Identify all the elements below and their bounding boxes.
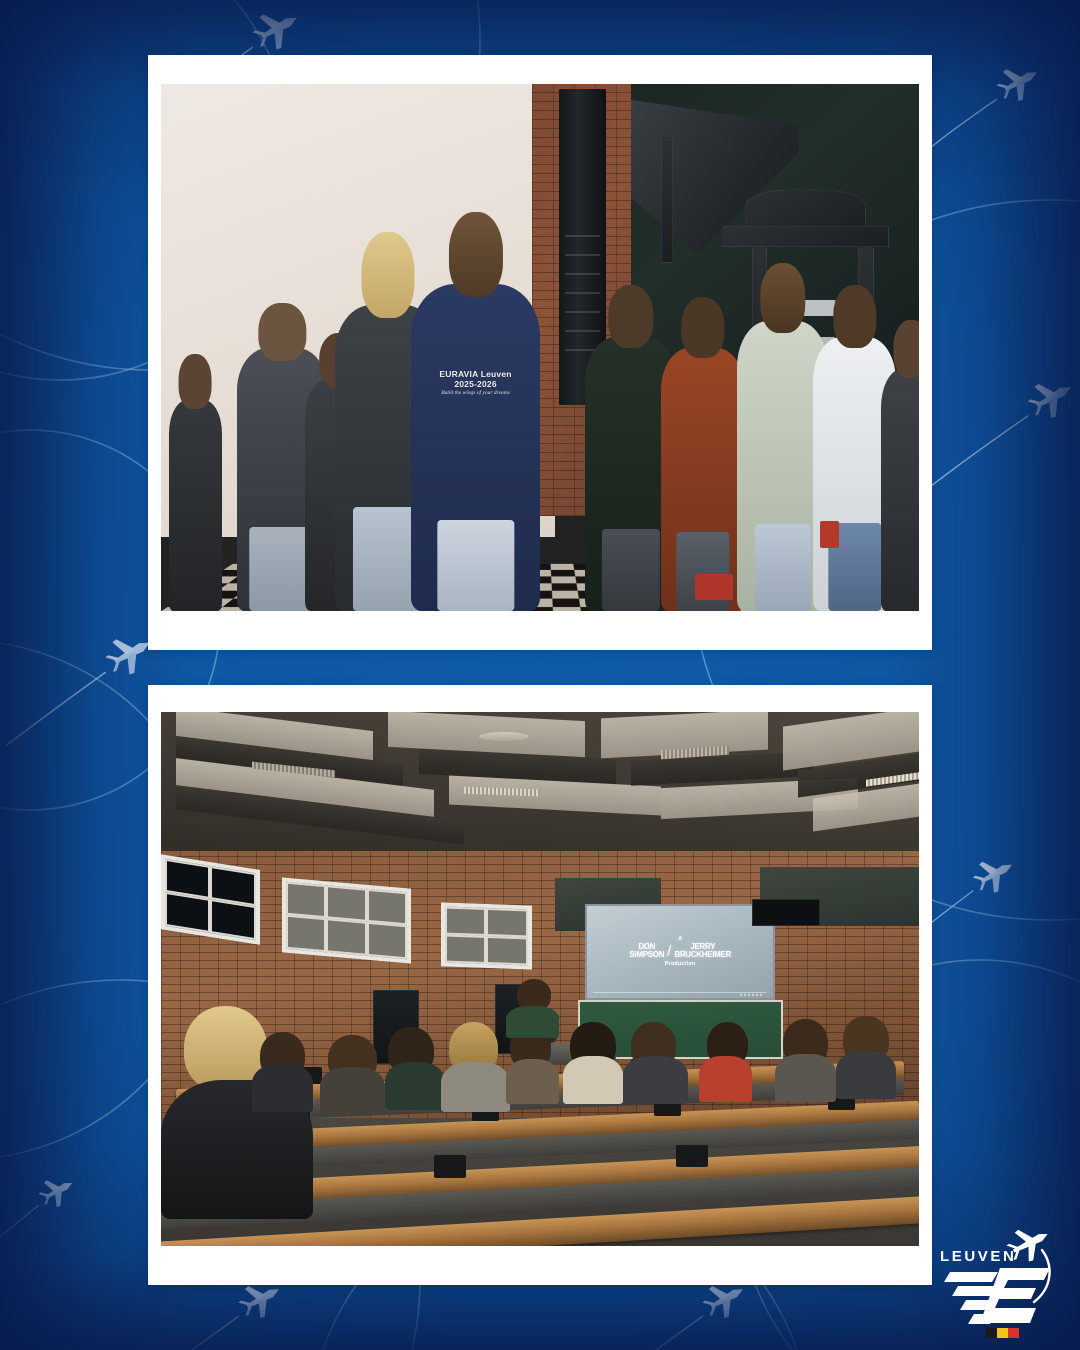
student-body-back-row xyxy=(506,1006,559,1038)
window-left xyxy=(161,854,260,944)
projection-screen: A DON SIMPSON / JERRY BRUCKHEIMER Produc… xyxy=(585,904,775,1000)
ceiling-speaker xyxy=(479,732,528,741)
student-body xyxy=(623,1056,687,1104)
euravia-leuven-logo: LEUVEN xyxy=(938,1228,1068,1343)
student-body xyxy=(252,1064,313,1112)
window-right xyxy=(441,903,532,970)
machine-rail xyxy=(661,137,673,263)
wall-monitor xyxy=(752,899,820,926)
student-body xyxy=(836,1051,897,1099)
machine-cylinder xyxy=(745,189,866,231)
person-orange-jacket xyxy=(661,348,744,612)
student-body xyxy=(441,1062,509,1113)
student-body xyxy=(506,1059,559,1104)
student-body xyxy=(699,1056,752,1101)
window-middle xyxy=(282,877,411,963)
drink-can xyxy=(820,521,838,547)
logo-mark xyxy=(938,1228,1068,1343)
photo-top-students-pizza: EURAVIA Leuven 2025-2026 Build the wings… xyxy=(161,84,919,611)
photo-frame-top: EURAVIA Leuven 2025-2026 Build the wings… xyxy=(148,55,932,650)
person-far-right xyxy=(881,369,919,611)
student-body xyxy=(385,1062,446,1110)
person-euravia-sweater: EURAVIA Leuven 2025-2026 Build the wings… xyxy=(411,284,540,611)
person-far-left xyxy=(169,400,222,611)
student-body xyxy=(320,1067,384,1115)
machine-platform xyxy=(722,226,889,247)
screen-control-dots xyxy=(740,994,762,996)
photo-bottom-lecture-hall: A DON SIMPSON / JERRY BRUCKHEIMER Produc… xyxy=(161,712,919,1246)
student-body xyxy=(563,1056,624,1104)
logo-wordmark: LEUVEN xyxy=(940,1248,1016,1265)
student-body xyxy=(775,1054,836,1102)
photo-frame-bottom: A DON SIMPSON / JERRY BRUCKHEIMER Produc… xyxy=(148,685,932,1285)
logo-belgian-flag xyxy=(986,1328,1019,1338)
sweater-print: EURAVIA Leuven 2025-2026 Build the wings… xyxy=(439,369,511,397)
red-bag xyxy=(695,574,733,600)
projection-credits: A DON SIMPSON / JERRY BRUCKHEIMER Produc… xyxy=(629,937,731,967)
